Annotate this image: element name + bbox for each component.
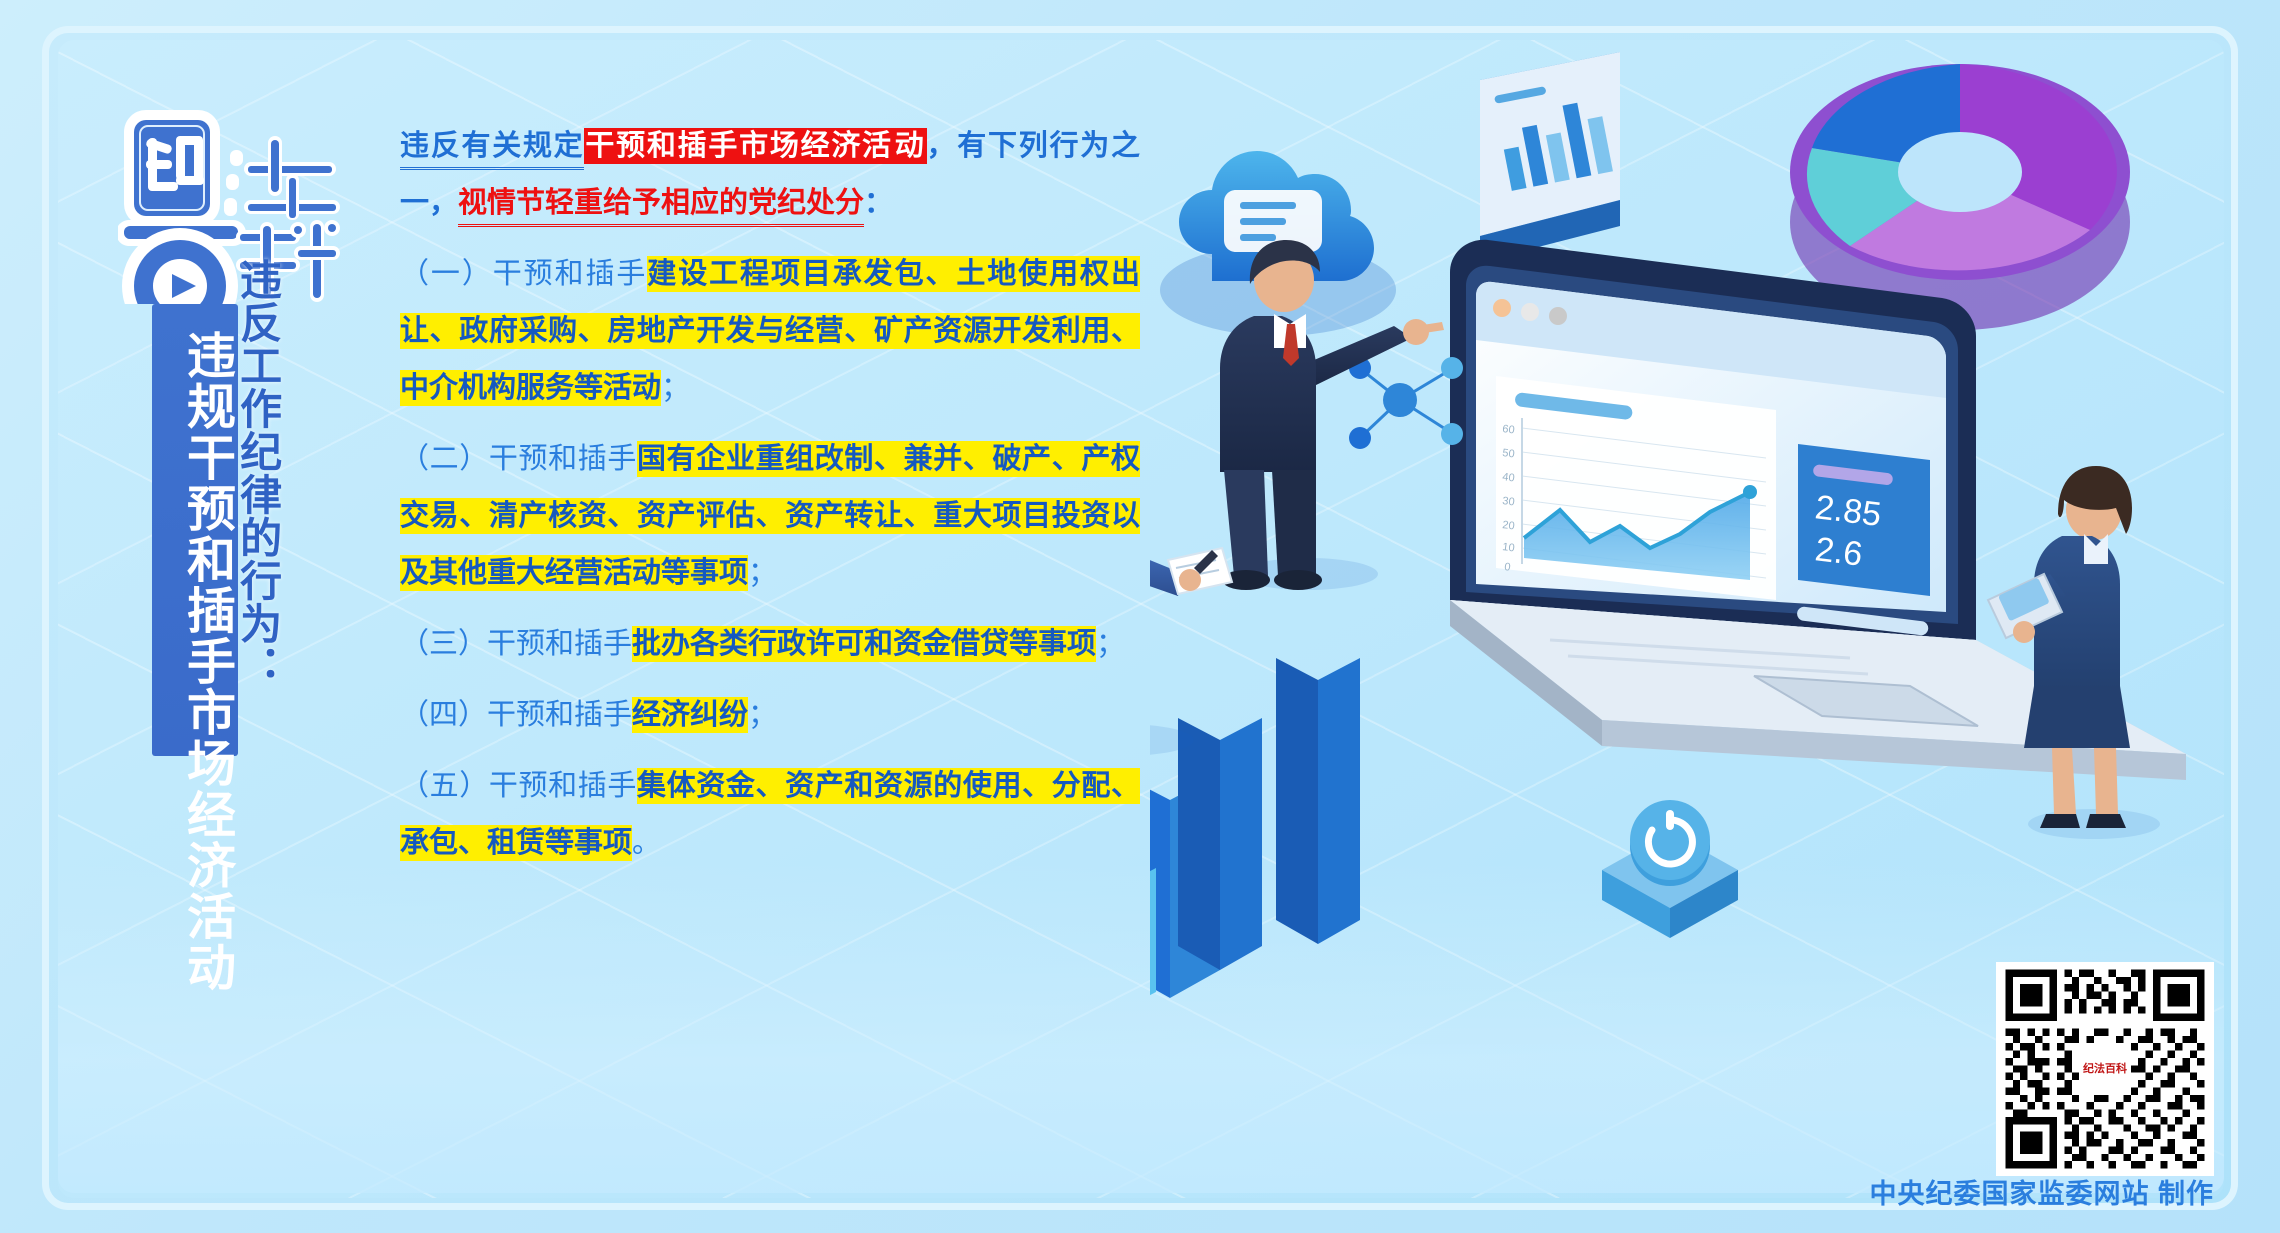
bar-chart-card-icon	[1480, 52, 1620, 262]
item-index: （五）	[400, 770, 489, 802]
heading-seg-1: 违反有关规定	[400, 130, 584, 170]
credit-line: 中央纪委国家监委网站 制作	[1869, 1172, 2214, 1211]
qr-code[interactable]: 纪法百科	[1996, 962, 2214, 1176]
item-index: （一）	[400, 258, 493, 290]
window-dot-orange	[1493, 299, 1511, 317]
vertical-title-main: 违规干预和插手市场经济活动	[160, 330, 232, 993]
item-index: （三）	[400, 628, 487, 660]
stat-value: 2.6	[1813, 530, 1865, 573]
item-tail: ；	[748, 557, 777, 589]
stat-value: 2.85	[1813, 488, 1883, 534]
item-lead: 干预和插手	[489, 770, 637, 802]
list-item: （三）干预和插手批办各类行政许可和资金借贷等事项；	[400, 616, 1140, 673]
list-item: （四）干预和插手经济纠纷；	[400, 687, 1140, 744]
window-dot-grey	[1521, 303, 1539, 321]
item-tail: ；	[748, 699, 777, 731]
svg-text:20: 20	[1502, 519, 1516, 532]
item-highlight: 经济纠纷	[632, 697, 748, 733]
poster-root: 违规干预和插手市场经济活动 违反工作纪律的行为： 违反有关规定干预和插手市场经济…	[0, 0, 2280, 1233]
svg-text:40: 40	[1502, 471, 1516, 484]
item-lead: 干预和插手	[487, 628, 632, 660]
item-highlight: 批办各类行政许可和资金借贷等事项	[632, 626, 1096, 662]
svg-text:30: 30	[1502, 495, 1516, 508]
network-icon	[1349, 357, 1463, 449]
svg-text:60: 60	[1502, 423, 1516, 436]
list-item: （一）干预和插手建设工程项目承发包、土地使用权出让、政府采购、房地产开发与经营、…	[400, 246, 1140, 417]
businesswoman-tablet	[1988, 466, 2160, 839]
bar-chart-3d-icon	[1150, 658, 1360, 1014]
item-lead: 干预和插手	[487, 699, 632, 731]
item-tail: ；	[661, 372, 690, 404]
window-dot-grey	[1549, 307, 1567, 325]
vertical-title-sub: 违反工作纪律的行为：	[234, 258, 278, 688]
heading-seg-2: 干预和插手市场经济活	[584, 128, 893, 164]
svg-text:50: 50	[1502, 447, 1516, 460]
item-index: （二）	[400, 443, 489, 475]
item-index: （四）	[400, 699, 487, 731]
refresh-icon	[1602, 800, 1738, 938]
item-lead: 干预和插手	[493, 258, 648, 290]
item-tail: ；	[1096, 628, 1125, 660]
article-content: 违反有关规定干预和插手市场经济活动，有下列行为之一，视情节轻重给予相应的党纪处分…	[400, 118, 1140, 872]
heading-seg-5: 视情节轻重给予相应	[458, 187, 719, 227]
svg-text:10: 10	[1502, 541, 1516, 554]
qr-center-logo: 纪法百科	[2083, 1047, 2127, 1091]
list-item: （五）干预和插手集体资金、资产和资源的使用、分配、承包、租赁等事项。	[400, 758, 1140, 872]
item-lead: 干预和插手	[489, 443, 637, 475]
item-tail: 。	[632, 827, 661, 859]
list-item: （二）干预和插手国有企业重组改制、兼并、破产、产权交易、清产核资、资产评估、资产…	[400, 431, 1140, 602]
heading-seg-6: 的党纪处分	[719, 187, 864, 227]
heading-paragraph: 违反有关规定干预和插手市场经济活动，有下列行为之一，视情节轻重给予相应的党纪处分…	[400, 118, 1140, 232]
heading-seg-3: 动	[894, 128, 927, 164]
heading-seg-7: ：	[864, 187, 893, 219]
